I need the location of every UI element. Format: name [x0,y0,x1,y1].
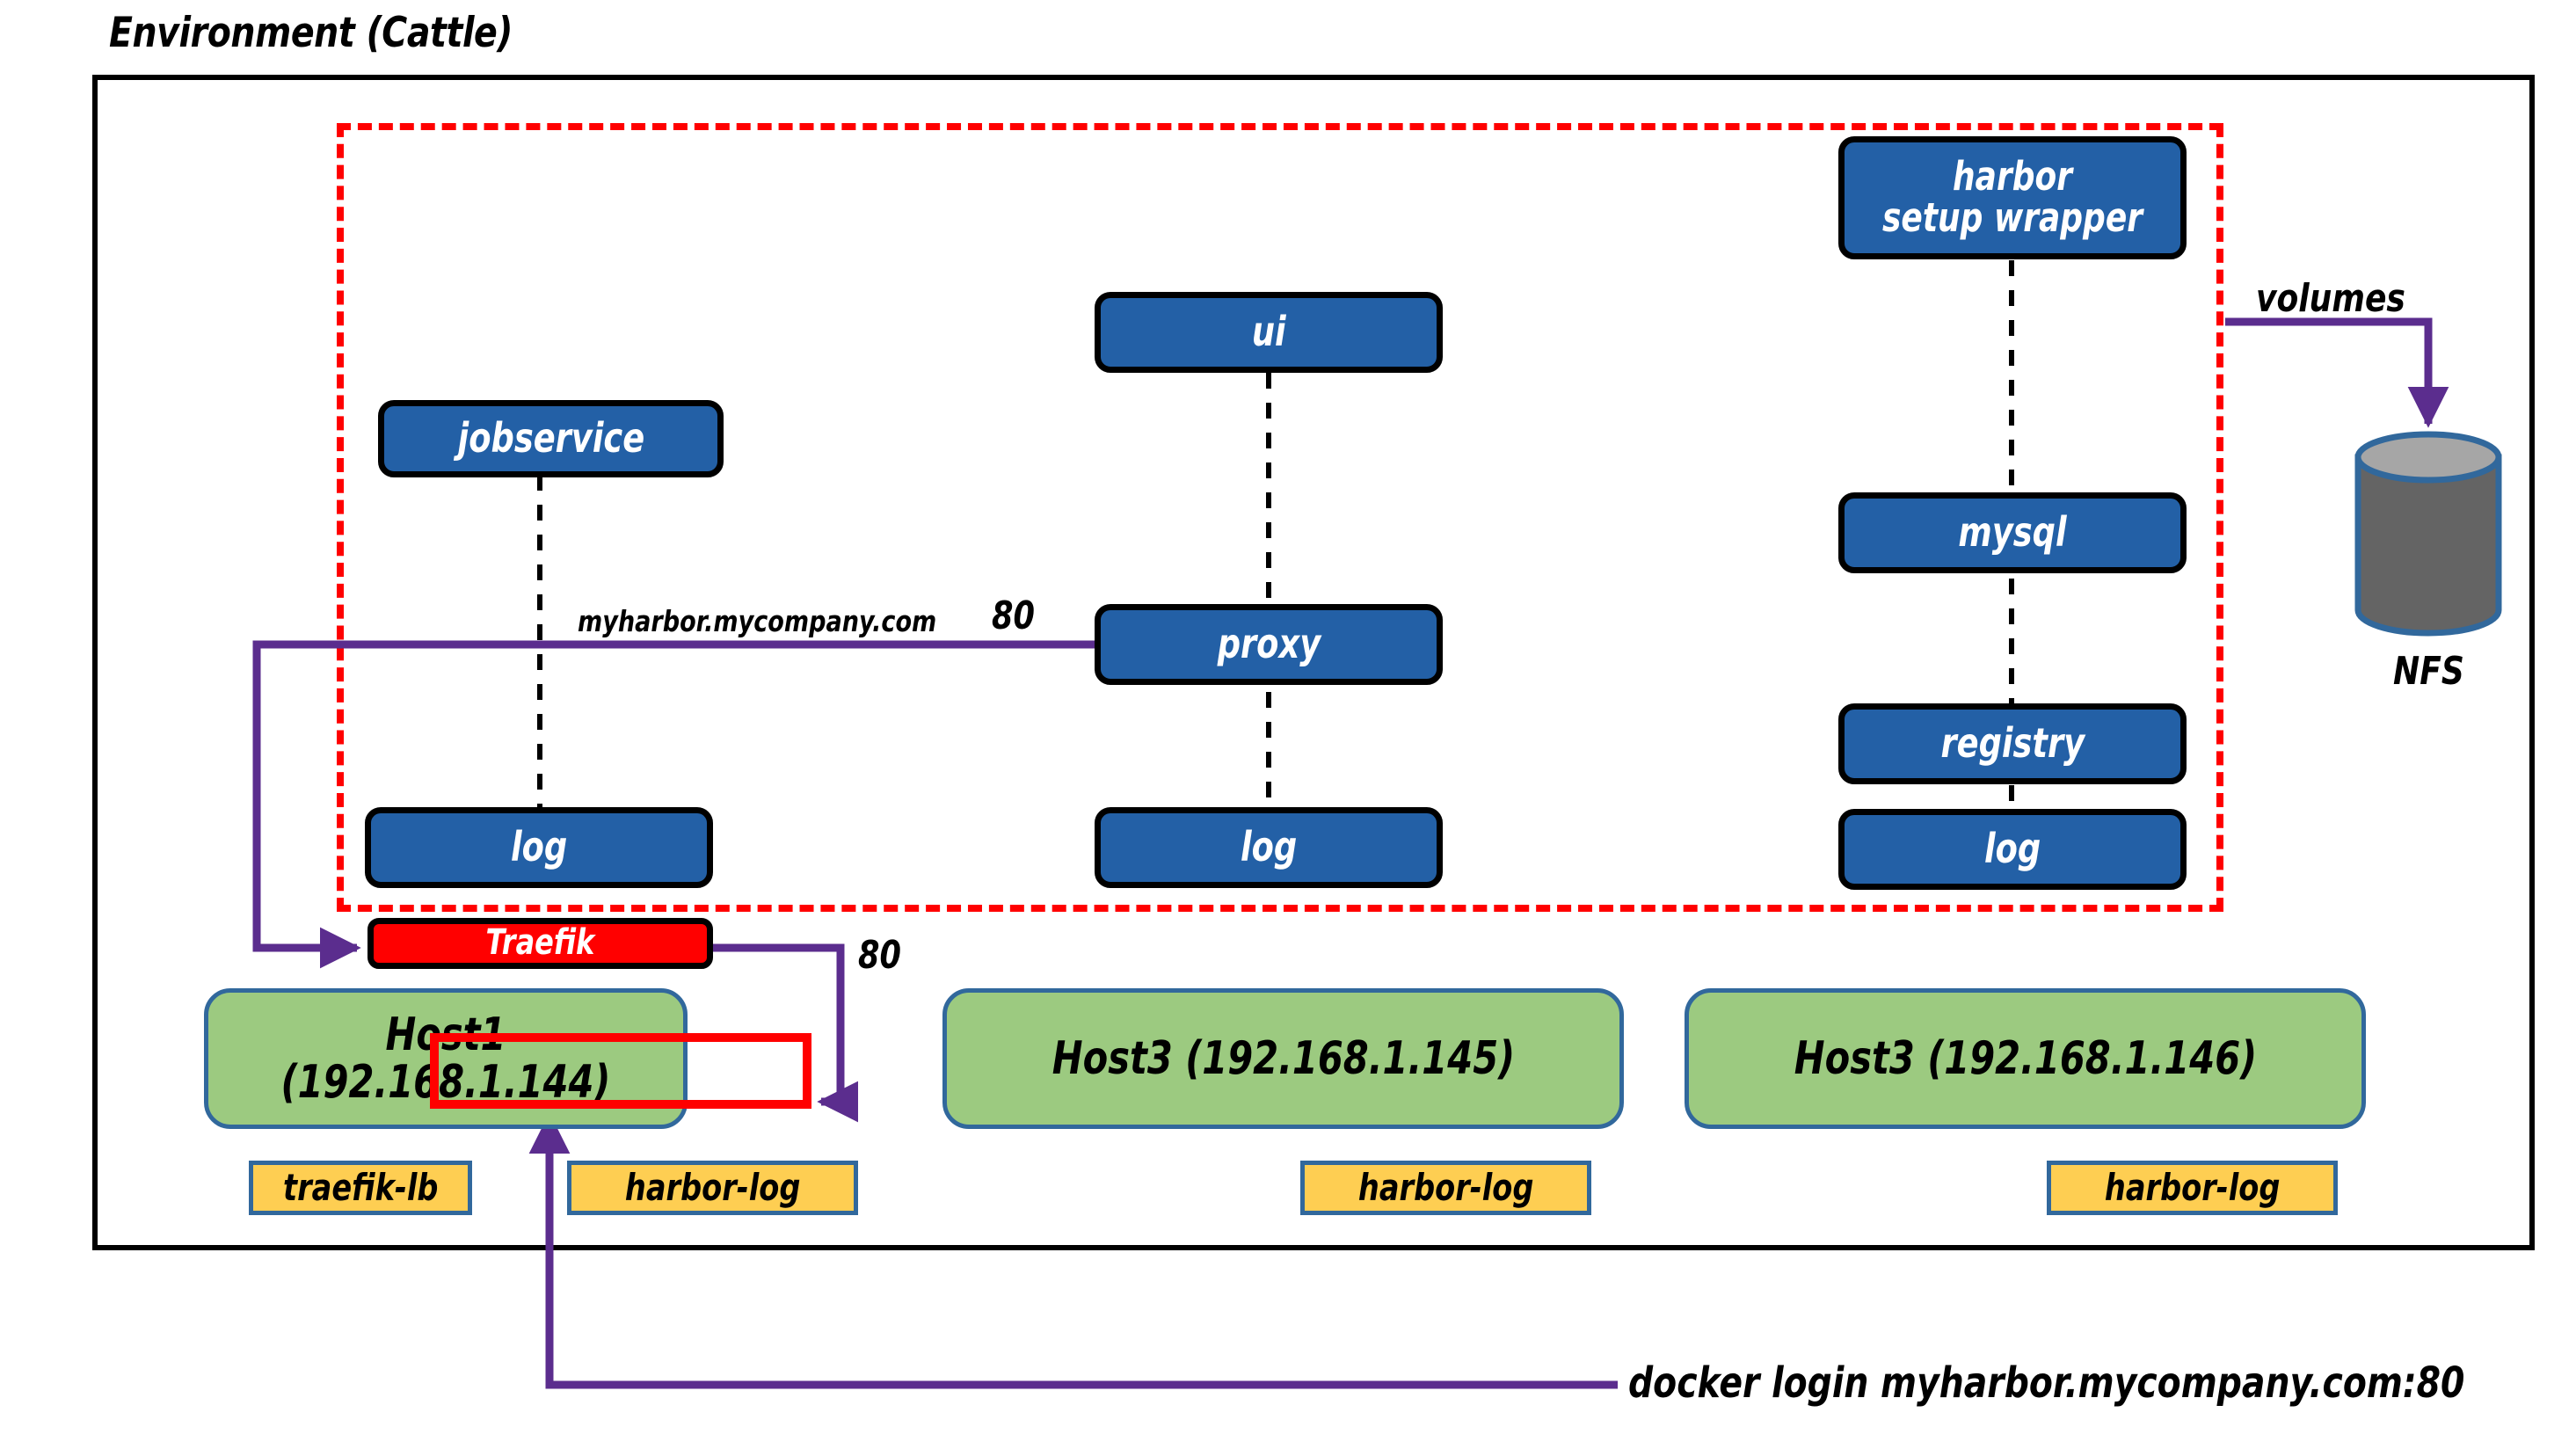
service-node-proxy-log[interactable]: log [1095,807,1443,888]
service-node-mysql[interactable]: mysql [1838,492,2187,573]
edge-label-proxy-port: 80 [992,597,1035,636]
service-label-line1: harbor [1953,153,2072,200]
host-tag-label-harbor-log-host3: harbor-log [2105,1169,2280,1207]
nfs-label: NFS [2393,652,2464,691]
host-card-host2[interactable]: Host3 (192.168.1.145) [942,988,1624,1129]
host-label-host3: Host3 (192.168.1.146) [1794,1035,2256,1082]
nfs-storage-icon [2354,429,2502,638]
service-node-harbor-setup-wrapper[interactable]: harbor setup wrapper [1838,136,2187,259]
service-node-proxy[interactable]: proxy [1095,604,1443,685]
service-label-registry-log: log [1984,828,2041,870]
service-label-proxy: proxy [1217,623,1321,666]
service-label-ui: ui [1252,311,1286,353]
service-label-registry: registry [1940,723,2085,765]
edge-label-proxy-hostname: myharbor.mycompany.com [578,607,936,636]
host-label-host2: Host3 (192.168.1.145) [1052,1035,1514,1082]
page-title: Environment (Cattle) [109,12,513,54]
host-tag-label-traefik-lb: traefik-lb [283,1169,438,1207]
diagram-canvas: Environment (Cattle) jobservic [0,0,2576,1449]
service-label-jobservice: jobservice [457,418,644,460]
service-node-jobservice-log[interactable]: log [365,807,713,888]
host-tag-harbor-log-host1[interactable]: harbor-log [567,1161,858,1215]
edge-label-traefik-port: 80 [858,936,901,975]
host-tag-label-harbor-log-host2: harbor-log [1358,1169,1533,1207]
service-node-ui[interactable]: ui [1095,292,1443,373]
host-tag-traefik-lb[interactable]: traefik-lb [249,1161,472,1215]
service-label-jobservice-log: log [511,826,567,869]
service-label-harbor-setup-wrapper: harbor setup wrapper [1882,157,2143,239]
service-label-proxy-log: log [1241,826,1297,869]
host-tag-harbor-log-host2[interactable]: harbor-log [1300,1161,1591,1215]
service-label-mysql: mysql [1958,512,2066,554]
host-card-host3[interactable]: Host3 (192.168.1.146) [1685,988,2366,1129]
host-tag-label-harbor-log-host1: harbor-log [625,1169,800,1207]
service-node-registry[interactable]: registry [1838,703,2187,784]
service-node-registry-log[interactable]: log [1838,809,2187,890]
traefik-node[interactable]: Traefik [367,918,713,969]
host1-ip-highlight [430,1033,811,1109]
service-node-jobservice[interactable]: jobservice [378,400,724,477]
traefik-label: Traefik [486,925,595,962]
service-label-line2: setup wrapper [1882,194,2143,241]
edge-label-docker-login: docker login myharbor.mycompany.com:80 [1628,1362,2464,1404]
edge-label-volumes: volumes [2256,280,2405,318]
host-tag-harbor-log-host3[interactable]: harbor-log [2047,1161,2338,1215]
